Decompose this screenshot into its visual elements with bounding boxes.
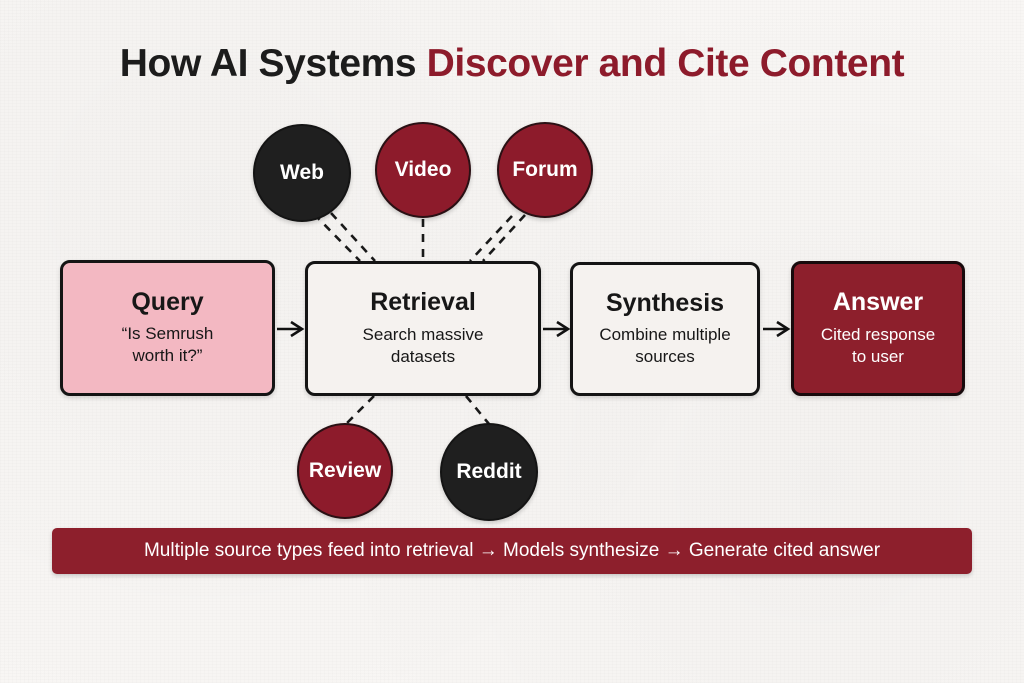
- pipeline-box-synthesis-desc: Combine multiple sources: [599, 324, 730, 368]
- source-node-forum[interactable]: Forum: [497, 122, 593, 218]
- source-node-video[interactable]: Video: [375, 122, 471, 218]
- source-node-forum-label: Forum: [512, 158, 577, 182]
- source-node-reddit-label: Reddit: [456, 460, 521, 484]
- footer-summary-banner: Multiple source types feed into retrieva…: [52, 528, 972, 574]
- pipeline-box-synthesis-title: Synthesis: [606, 290, 724, 318]
- pipeline-box-answer-title: Answer: [833, 289, 923, 317]
- source-node-web-label: Web: [280, 161, 324, 185]
- pipeline-box-query-desc: “Is Semrush worth it?”: [122, 323, 214, 367]
- page-title-red-part: Discover and Cite Content: [427, 42, 905, 85]
- pipeline-box-answer[interactable]: Answer Cited response to user: [791, 261, 965, 396]
- pipeline-box-retrieval-title: Retrieval: [370, 289, 476, 317]
- pipeline-box-retrieval-desc: Search massive datasets: [363, 324, 484, 368]
- pipeline-box-query[interactable]: Query “Is Semrush worth it?”: [60, 260, 275, 396]
- source-node-review[interactable]: Review: [297, 423, 393, 519]
- page-title: How AI Systems Discover and Cite Content: [0, 42, 1024, 86]
- source-node-web[interactable]: Web: [253, 124, 351, 222]
- page-title-dark-part: How AI Systems: [120, 42, 427, 85]
- pipeline-box-query-title: Query: [131, 289, 203, 317]
- footer-summary-text: Multiple source types feed into retrieva…: [144, 540, 880, 562]
- pipeline-box-synthesis[interactable]: Synthesis Combine multiple sources: [570, 262, 760, 396]
- source-node-video-label: Video: [395, 158, 452, 182]
- source-node-reddit[interactable]: Reddit: [440, 423, 538, 521]
- source-node-review-label: Review: [309, 459, 381, 483]
- pipeline-box-retrieval[interactable]: Retrieval Search massive datasets: [305, 261, 541, 396]
- pipeline-box-answer-desc: Cited response to user: [821, 324, 935, 368]
